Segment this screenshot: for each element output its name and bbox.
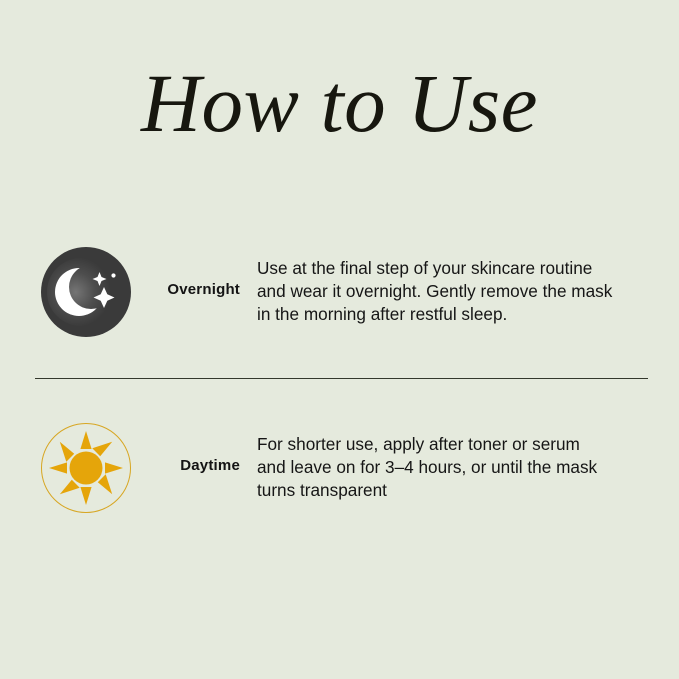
step-description-daytime: For shorter use, apply after toner or se… [257,433,662,502]
moon-glyph [41,247,131,337]
section-divider [35,378,648,379]
description-line: turns transparent [257,479,662,502]
description-line: For shorter use, apply after toner or se… [257,433,662,456]
step-description-overnight: Use at the final step of your skincare r… [257,257,662,326]
how-to-use-panel: How to Use [0,0,679,679]
step-row-overnight: Overnight Use at the final step of your … [0,247,679,347]
sun-icon [41,423,131,513]
description-line: and leave on for 3–4 hours, or until the… [257,456,662,479]
sun-glyph [42,424,130,512]
sun-icon-ring [41,423,131,513]
moon-crescent-stars-icon [41,247,131,337]
page-title: How to Use [0,62,679,145]
step-row-daytime: Daytime For shorter use, apply after ton… [0,423,679,523]
description-line: and wear it overnight. Gently remove the… [257,280,662,303]
step-label-overnight: Overnight [140,281,240,298]
description-line: Use at the final step of your skincare r… [257,257,662,280]
description-line: in the morning after restful sleep. [257,303,662,326]
step-label-daytime: Daytime [140,457,240,474]
moon-icon-circle [41,247,131,337]
